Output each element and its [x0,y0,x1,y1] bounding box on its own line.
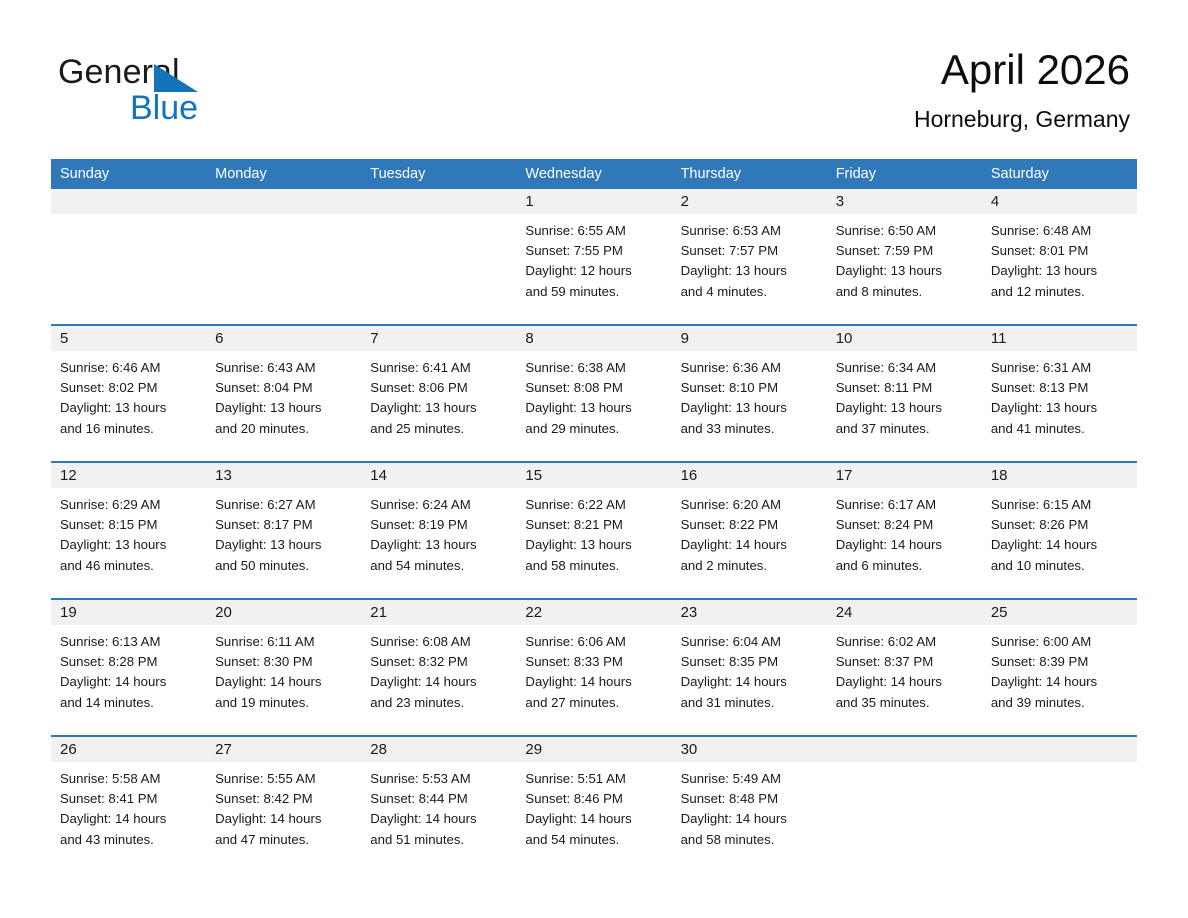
sunset-line: Sunset: 8:37 PM [836,652,976,672]
day-cell[interactable]: Sunrise: 6:46 AM Sunset: 8:02 PM Dayligh… [51,351,206,461]
daylight-line-cont: and 27 minutes. [525,693,665,713]
week-daynumber-band: 5 6 7 8 9 10 11 [51,326,1137,351]
day-number[interactable]: 9 [672,326,827,351]
day-cell[interactable]: Sunrise: 6:34 AM Sunset: 8:11 PM Dayligh… [827,351,982,461]
daylight-line: Daylight: 14 hours [836,672,976,692]
daylight-line: Daylight: 14 hours [215,809,355,829]
day-number[interactable]: 30 [672,737,827,762]
day-cell[interactable] [51,214,206,324]
day-number[interactable]: 29 [516,737,671,762]
sunrise-line: Sunrise: 5:51 AM [525,769,665,789]
day-cell[interactable]: Sunrise: 6:53 AM Sunset: 7:57 PM Dayligh… [672,214,827,324]
day-cell[interactable]: Sunrise: 6:48 AM Sunset: 8:01 PM Dayligh… [982,214,1137,324]
day-cell[interactable]: Sunrise: 6:29 AM Sunset: 8:15 PM Dayligh… [51,488,206,598]
day-number[interactable] [827,737,982,762]
sunrise-line: Sunrise: 6:00 AM [991,632,1131,652]
day-number[interactable]: 16 [672,463,827,488]
daylight-line-cont: and 19 minutes. [215,693,355,713]
sunset-line: Sunset: 8:46 PM [525,789,665,809]
sunset-line: Sunset: 7:55 PM [525,241,665,261]
sunrise-line: Sunrise: 6:55 AM [525,221,665,241]
page-title: April 2026 [914,44,1130,96]
day-number[interactable]: 7 [361,326,516,351]
week-detail-band: Sunrise: 6:29 AM Sunset: 8:15 PM Dayligh… [51,488,1137,598]
daylight-line-cont: and 4 minutes. [681,282,821,302]
daylight-line-cont: and 29 minutes. [525,419,665,439]
sunset-line: Sunset: 8:19 PM [370,515,510,535]
sunrise-line: Sunrise: 6:34 AM [836,358,976,378]
day-number[interactable]: 26 [51,737,206,762]
week-daynumber-band: 12 13 14 15 16 17 18 [51,463,1137,488]
week-detail-band: Sunrise: 5:58 AM Sunset: 8:41 PM Dayligh… [51,762,1137,866]
daylight-line: Daylight: 14 hours [370,809,510,829]
day-cell[interactable]: Sunrise: 6:11 AM Sunset: 8:30 PM Dayligh… [206,625,361,735]
day-cell[interactable]: Sunrise: 5:53 AM Sunset: 8:44 PM Dayligh… [361,762,516,866]
daylight-line: Daylight: 14 hours [681,535,821,555]
day-cell[interactable]: Sunrise: 6:00 AM Sunset: 8:39 PM Dayligh… [982,625,1137,735]
day-cell[interactable]: Sunrise: 5:58 AM Sunset: 8:41 PM Dayligh… [51,762,206,866]
sunrise-line: Sunrise: 5:53 AM [370,769,510,789]
calendar-week-row: 12 13 14 15 16 17 18 Sunrise: 6:29 AM Su… [51,461,1137,598]
sunrise-line: Sunrise: 6:41 AM [370,358,510,378]
calendar-week-row: 1 2 3 4 [51,189,1137,324]
daylight-line: Daylight: 13 hours [370,398,510,418]
sunrise-line: Sunrise: 6:22 AM [525,495,665,515]
sunrise-line: Sunrise: 6:08 AM [370,632,510,652]
day-number[interactable]: 4 [982,189,1137,214]
daylight-line-cont: and 10 minutes. [991,556,1131,576]
sunset-line: Sunset: 8:30 PM [215,652,355,672]
day-cell[interactable]: Sunrise: 5:55 AM Sunset: 8:42 PM Dayligh… [206,762,361,866]
sunset-line: Sunset: 8:24 PM [836,515,976,535]
daylight-line-cont: and 16 minutes. [60,419,200,439]
day-cell[interactable]: Sunrise: 5:51 AM Sunset: 8:46 PM Dayligh… [516,762,671,866]
daylight-line-cont: and 8 minutes. [836,282,976,302]
day-cell[interactable]: Sunrise: 6:15 AM Sunset: 8:26 PM Dayligh… [982,488,1137,598]
daylight-line: Daylight: 14 hours [525,809,665,829]
day-number[interactable]: 23 [672,600,827,625]
week-detail-band: Sunrise: 6:13 AM Sunset: 8:28 PM Dayligh… [51,625,1137,735]
sunrise-line: Sunrise: 6:15 AM [991,495,1131,515]
day-cell[interactable]: Sunrise: 6:08 AM Sunset: 8:32 PM Dayligh… [361,625,516,735]
day-number[interactable]: 18 [982,463,1137,488]
sunset-line: Sunset: 8:11 PM [836,378,976,398]
daylight-line-cont: and 31 minutes. [681,693,821,713]
daylight-line: Daylight: 13 hours [60,398,200,418]
daylight-line: Daylight: 14 hours [60,809,200,829]
sunrise-line: Sunrise: 6:02 AM [836,632,976,652]
sunset-line: Sunset: 7:59 PM [836,241,976,261]
daylight-line: Daylight: 13 hours [836,261,976,281]
day-number[interactable]: 28 [361,737,516,762]
sunrise-line: Sunrise: 6:48 AM [991,221,1131,241]
weekday-header-tuesday: Tuesday [361,159,516,189]
week-daynumber-band: 1 2 3 4 [51,189,1137,214]
daylight-line: Daylight: 13 hours [991,398,1131,418]
day-cell[interactable]: Sunrise: 6:13 AM Sunset: 8:28 PM Dayligh… [51,625,206,735]
day-number[interactable]: 13 [206,463,361,488]
calendar-page: General Blue April 2026 Horneburg, Germa… [0,0,1188,918]
day-number[interactable]: 20 [206,600,361,625]
day-cell[interactable] [206,214,361,324]
daylight-line: Daylight: 14 hours [215,672,355,692]
location-subtitle: Horneburg, Germany [914,104,1130,134]
day-cell[interactable]: Sunrise: 6:36 AM Sunset: 8:10 PM Dayligh… [672,351,827,461]
day-number[interactable] [206,189,361,214]
daylight-line: Daylight: 14 hours [991,535,1131,555]
daylight-line: Daylight: 13 hours [525,535,665,555]
daylight-line: Daylight: 13 hours [370,535,510,555]
day-number[interactable]: 15 [516,463,671,488]
day-cell[interactable]: Sunrise: 6:27 AM Sunset: 8:17 PM Dayligh… [206,488,361,598]
daylight-line: Daylight: 14 hours [991,672,1131,692]
sunrise-line: Sunrise: 6:11 AM [215,632,355,652]
sunset-line: Sunset: 8:33 PM [525,652,665,672]
calendar-week-row: 5 6 7 8 9 10 11 Sunrise: 6:46 AM Sunset:… [51,324,1137,461]
calendar-week-row: 19 20 21 22 23 24 25 Sunrise: 6:13 AM Su… [51,598,1137,735]
sunset-line: Sunset: 8:21 PM [525,515,665,535]
daylight-line-cont: and 51 minutes. [370,830,510,850]
day-number[interactable]: 8 [516,326,671,351]
sunset-line: Sunset: 8:10 PM [681,378,821,398]
day-cell[interactable]: Sunrise: 6:04 AM Sunset: 8:35 PM Dayligh… [672,625,827,735]
daylight-line-cont: and 58 minutes. [681,830,821,850]
sunrise-line: Sunrise: 6:53 AM [681,221,821,241]
daylight-line: Daylight: 13 hours [681,261,821,281]
daylight-line-cont: and 54 minutes. [370,556,510,576]
day-number[interactable]: 1 [516,189,671,214]
daylight-line-cont: and 43 minutes. [60,830,200,850]
daylight-line-cont: and 14 minutes. [60,693,200,713]
daylight-line-cont: and 33 minutes. [681,419,821,439]
day-number[interactable]: 14 [361,463,516,488]
day-cell[interactable] [982,762,1137,866]
day-cell[interactable]: Sunrise: 6:17 AM Sunset: 8:24 PM Dayligh… [827,488,982,598]
sunset-line: Sunset: 8:22 PM [681,515,821,535]
weekday-header-saturday: Saturday [982,159,1137,189]
week-daynumber-band: 19 20 21 22 23 24 25 [51,600,1137,625]
day-cell[interactable]: Sunrise: 6:24 AM Sunset: 8:19 PM Dayligh… [361,488,516,598]
day-number[interactable] [982,737,1137,762]
day-number[interactable] [51,189,206,214]
day-number[interactable]: 5 [51,326,206,351]
sunset-line: Sunset: 8:44 PM [370,789,510,809]
day-number[interactable]: 2 [672,189,827,214]
sunset-line: Sunset: 8:08 PM [525,378,665,398]
day-cell[interactable] [827,762,982,866]
day-cell[interactable]: Sunrise: 6:20 AM Sunset: 8:22 PM Dayligh… [672,488,827,598]
day-number[interactable]: 25 [982,600,1137,625]
daylight-line: Daylight: 13 hours [681,398,821,418]
sunset-line: Sunset: 8:01 PM [991,241,1131,261]
day-number[interactable]: 3 [827,189,982,214]
daylight-line: Daylight: 13 hours [836,398,976,418]
daylight-line-cont: and 2 minutes. [681,556,821,576]
day-number[interactable]: 6 [206,326,361,351]
day-cell[interactable]: Sunrise: 6:55 AM Sunset: 7:55 PM Dayligh… [516,214,671,324]
sunset-line: Sunset: 8:06 PM [370,378,510,398]
sunset-line: Sunset: 8:04 PM [215,378,355,398]
daylight-line-cont: and 54 minutes. [525,830,665,850]
daylight-line: Daylight: 13 hours [215,535,355,555]
day-cell[interactable]: Sunrise: 6:41 AM Sunset: 8:06 PM Dayligh… [361,351,516,461]
daylight-line-cont: and 12 minutes. [991,282,1131,302]
day-cell[interactable]: Sunrise: 6:06 AM Sunset: 8:33 PM Dayligh… [516,625,671,735]
day-cell[interactable]: Sunrise: 6:43 AM Sunset: 8:04 PM Dayligh… [206,351,361,461]
sunrise-line: Sunrise: 6:20 AM [681,495,821,515]
sunset-line: Sunset: 8:48 PM [681,789,821,809]
daylight-line-cont: and 25 minutes. [370,419,510,439]
sunrise-line: Sunrise: 6:43 AM [215,358,355,378]
sunrise-line: Sunrise: 6:24 AM [370,495,510,515]
sunrise-line: Sunrise: 6:13 AM [60,632,200,652]
daylight-line: Daylight: 13 hours [991,261,1131,281]
calendar-week-row: 26 27 28 29 30 Sunrise: 5:58 AM Sunset: … [51,735,1137,866]
weekday-header-row: Sunday Monday Tuesday Wednesday Thursday… [51,159,1137,189]
sunrise-line: Sunrise: 6:29 AM [60,495,200,515]
sunset-line: Sunset: 8:17 PM [215,515,355,535]
day-cell[interactable]: Sunrise: 6:50 AM Sunset: 7:59 PM Dayligh… [827,214,982,324]
day-number[interactable]: 17 [827,463,982,488]
day-cell[interactable]: Sunrise: 6:38 AM Sunset: 8:08 PM Dayligh… [516,351,671,461]
sunset-line: Sunset: 8:02 PM [60,378,200,398]
weekday-header-sunday: Sunday [51,159,206,189]
daylight-line-cont: and 47 minutes. [215,830,355,850]
sunset-line: Sunset: 8:35 PM [681,652,821,672]
sunrise-line: Sunrise: 5:49 AM [681,769,821,789]
daylight-line: Daylight: 13 hours [215,398,355,418]
sunset-line: Sunset: 7:57 PM [681,241,821,261]
daylight-line-cont: and 35 minutes. [836,693,976,713]
daylight-line: Daylight: 14 hours [681,672,821,692]
sunrise-line: Sunrise: 6:38 AM [525,358,665,378]
day-number[interactable] [361,189,516,214]
sunrise-line: Sunrise: 6:31 AM [991,358,1131,378]
sunrise-line: Sunrise: 6:17 AM [836,495,976,515]
weekday-header-wednesday: Wednesday [516,159,671,189]
day-cell[interactable]: Sunrise: 6:22 AM Sunset: 8:21 PM Dayligh… [516,488,671,598]
week-daynumber-band: 26 27 28 29 30 [51,737,1137,762]
title-block: April 2026 Horneburg, Germany [914,44,1130,134]
day-cell[interactable] [361,214,516,324]
weekday-header-friday: Friday [827,159,982,189]
week-detail-band: Sunrise: 6:55 AM Sunset: 7:55 PM Dayligh… [51,214,1137,324]
sunset-line: Sunset: 8:32 PM [370,652,510,672]
sunset-line: Sunset: 8:26 PM [991,515,1131,535]
logo-text-blue: Blue [130,88,198,128]
daylight-line-cont: and 37 minutes. [836,419,976,439]
day-number[interactable]: 24 [827,600,982,625]
sunset-line: Sunset: 8:42 PM [215,789,355,809]
calendar-grid: Sunday Monday Tuesday Wednesday Thursday… [51,159,1137,866]
generalblue-logo[interactable]: General Blue [58,52,318,128]
day-cell[interactable]: Sunrise: 6:02 AM Sunset: 8:37 PM Dayligh… [827,625,982,735]
daylight-line-cont: and 41 minutes. [991,419,1131,439]
day-number[interactable]: 27 [206,737,361,762]
page-header: General Blue April 2026 Horneburg, Germa… [0,0,1188,158]
weekday-header-thursday: Thursday [672,159,827,189]
daylight-line: Daylight: 14 hours [681,809,821,829]
sunset-line: Sunset: 8:41 PM [60,789,200,809]
day-number[interactable]: 12 [51,463,206,488]
daylight-line: Daylight: 14 hours [836,535,976,555]
week-detail-band: Sunrise: 6:46 AM Sunset: 8:02 PM Dayligh… [51,351,1137,461]
day-number[interactable]: 21 [361,600,516,625]
daylight-line: Daylight: 14 hours [60,672,200,692]
daylight-line-cont: and 23 minutes. [370,693,510,713]
sunrise-line: Sunrise: 5:58 AM [60,769,200,789]
daylight-line-cont: and 46 minutes. [60,556,200,576]
sunrise-line: Sunrise: 6:46 AM [60,358,200,378]
daylight-line-cont: and 39 minutes. [991,693,1131,713]
sunrise-line: Sunrise: 6:27 AM [215,495,355,515]
daylight-line: Daylight: 13 hours [60,535,200,555]
day-number[interactable]: 11 [982,326,1137,351]
sunrise-line: Sunrise: 5:55 AM [215,769,355,789]
daylight-line-cont: and 20 minutes. [215,419,355,439]
daylight-line-cont: and 50 minutes. [215,556,355,576]
daylight-line-cont: and 58 minutes. [525,556,665,576]
daylight-line: Daylight: 14 hours [370,672,510,692]
sunset-line: Sunset: 8:28 PM [60,652,200,672]
sunrise-line: Sunrise: 6:36 AM [681,358,821,378]
daylight-line-cont: and 6 minutes. [836,556,976,576]
daylight-line: Daylight: 12 hours [525,261,665,281]
day-number[interactable]: 19 [51,600,206,625]
day-number[interactable]: 22 [516,600,671,625]
day-number[interactable]: 10 [827,326,982,351]
sunset-line: Sunset: 8:13 PM [991,378,1131,398]
sunrise-line: Sunrise: 6:06 AM [525,632,665,652]
sunrise-line: Sunrise: 6:04 AM [681,632,821,652]
day-cell[interactable]: Sunrise: 5:49 AM Sunset: 8:48 PM Dayligh… [672,762,827,866]
sunset-line: Sunset: 8:15 PM [60,515,200,535]
daylight-line: Daylight: 14 hours [525,672,665,692]
day-cell[interactable]: Sunrise: 6:31 AM Sunset: 8:13 PM Dayligh… [982,351,1137,461]
daylight-line-cont: and 59 minutes. [525,282,665,302]
sunrise-line: Sunrise: 6:50 AM [836,221,976,241]
sunset-line: Sunset: 8:39 PM [991,652,1131,672]
weekday-header-monday: Monday [206,159,361,189]
daylight-line: Daylight: 13 hours [525,398,665,418]
